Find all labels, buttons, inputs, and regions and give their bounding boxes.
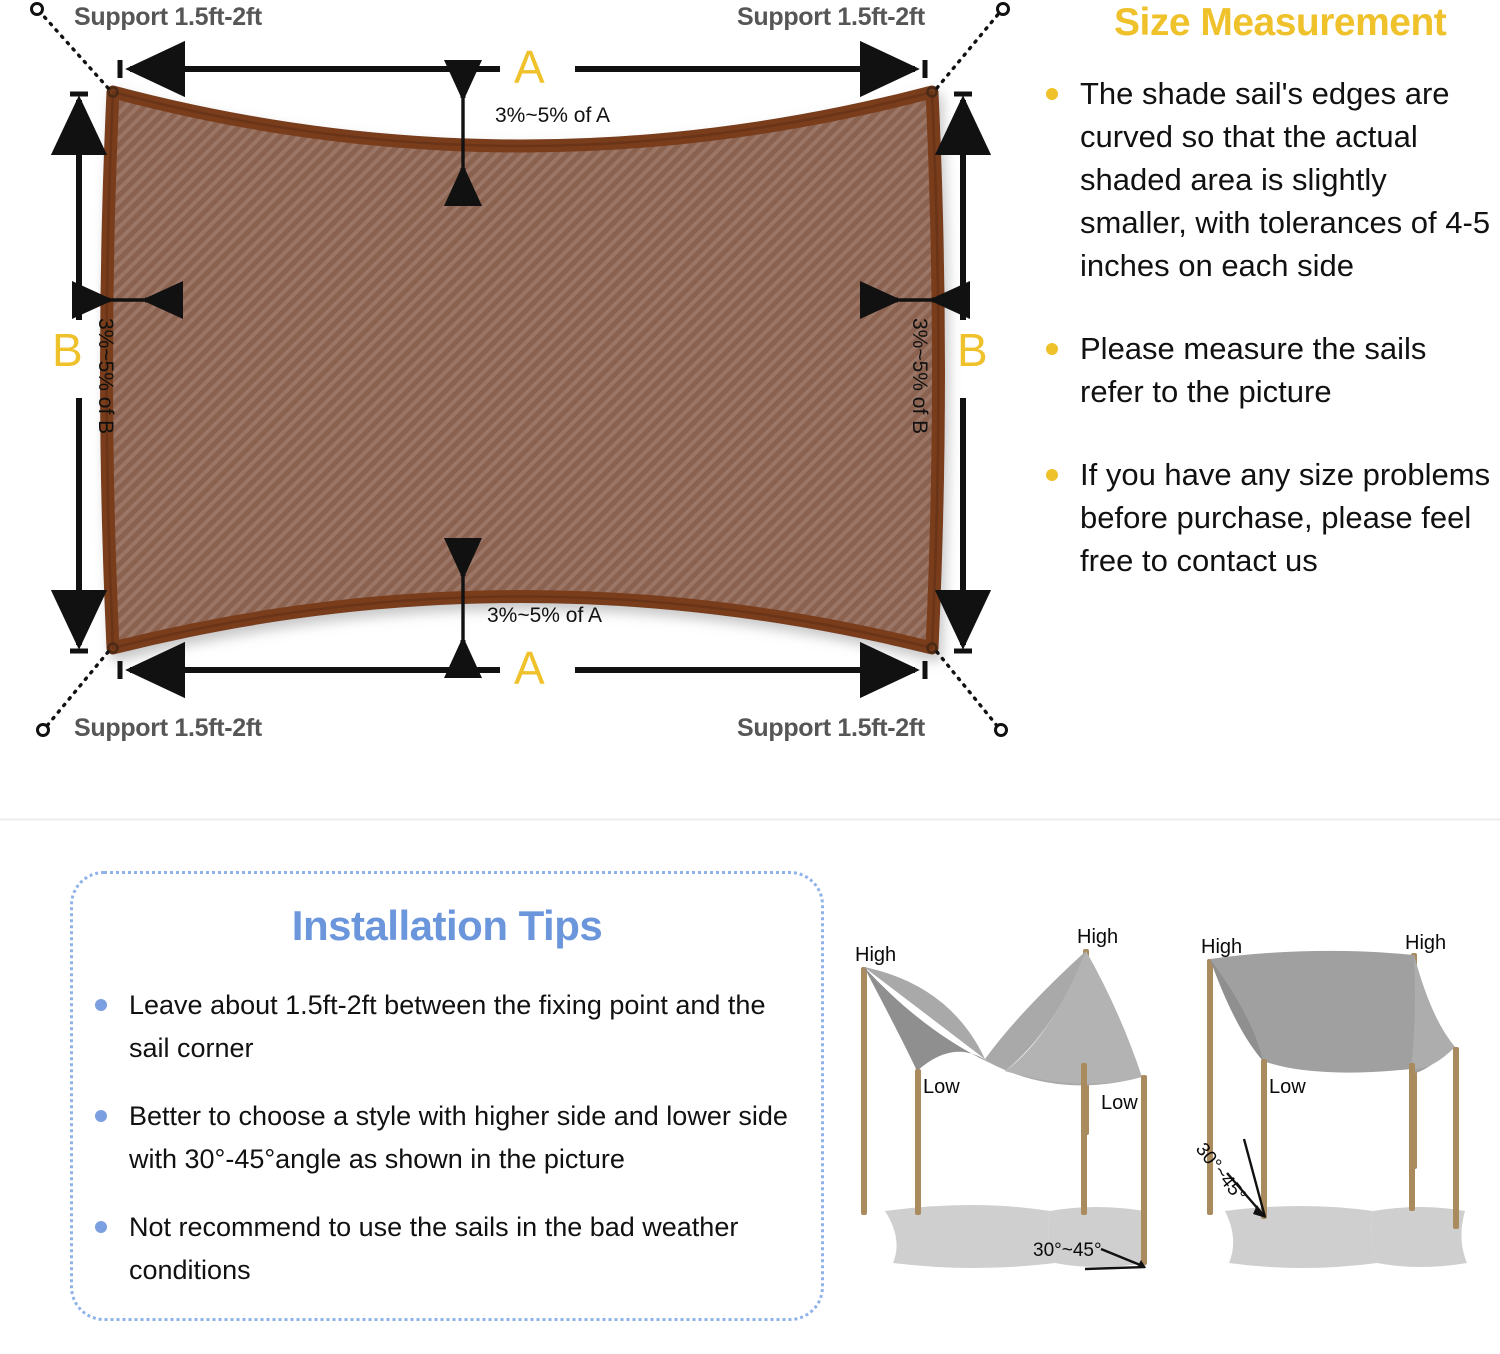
angle-label: 30°~45° bbox=[1033, 1240, 1102, 1261]
tolerance-label-b-right: 3%~5% of B bbox=[907, 318, 931, 434]
support-pole bbox=[1261, 1059, 1267, 1219]
support-pole bbox=[861, 967, 867, 1215]
ground-shadow bbox=[885, 1205, 1055, 1268]
illus-label-low: Low bbox=[923, 1076, 960, 1098]
list-item: Not recommend to use the sails in the ba… bbox=[95, 1206, 809, 1292]
list-item: If you have any size problems before pur… bbox=[1046, 453, 1498, 582]
illus-label-low: Low bbox=[1269, 1076, 1306, 1098]
tip-bullet-text: Not recommend to use the sails in the ba… bbox=[129, 1206, 809, 1292]
illus-label-high: High bbox=[855, 944, 896, 966]
support-pole bbox=[1453, 1047, 1459, 1229]
angle-label: 30°~45° bbox=[1191, 1139, 1250, 1206]
support-label-bottom-left: Support 1.5ft-2ft bbox=[74, 714, 262, 743]
list-item: The shade sail's edges are curved so tha… bbox=[1046, 72, 1498, 287]
size-measurement-title: Size Measurement bbox=[1114, 1, 1446, 45]
bullet-dot-icon bbox=[1046, 343, 1058, 355]
ground-shadow bbox=[1225, 1206, 1377, 1268]
size-bullet-text: Please measure the sails refer to the pi… bbox=[1080, 327, 1498, 413]
tolerance-label-a-top: 3%~5% of A bbox=[495, 104, 610, 128]
list-item: Please measure the sails refer to the pi… bbox=[1046, 327, 1498, 413]
illustration-hypar-sail: High High Low Low 30°~45° bbox=[855, 926, 1147, 1269]
support-label-top-right: Support 1.5ft-2ft bbox=[737, 3, 925, 32]
illus-label-high: High bbox=[1077, 926, 1118, 948]
tip-bullet-text: Leave about 1.5ft-2ft between the fixing… bbox=[129, 984, 809, 1070]
illus-label-high: High bbox=[1201, 936, 1242, 958]
installation-tips-bullet-list: Leave about 1.5ft-2ft between the fixing… bbox=[95, 984, 809, 1317]
list-item: Better to choose a style with higher sid… bbox=[95, 1095, 809, 1181]
support-pole bbox=[1409, 1063, 1415, 1211]
sail-shape bbox=[107, 92, 939, 648]
bullet-dot-icon bbox=[1046, 469, 1058, 481]
tip-bullet-text: Better to choose a style with higher sid… bbox=[129, 1095, 809, 1181]
tolerance-label-a-bottom: 3%~5% of A bbox=[487, 604, 602, 628]
installation-illustrations: High High Low Low 30°~45° bbox=[845, 911, 1495, 1331]
bullet-dot-icon bbox=[95, 1110, 107, 1122]
dimension-letter-b-left: B bbox=[52, 327, 83, 373]
support-label-top-left: Support 1.5ft-2ft bbox=[74, 3, 262, 32]
support-pole bbox=[1141, 1075, 1147, 1265]
installation-tips-section: Installation Tips Leave about 1.5ft-2ft … bbox=[0, 821, 1500, 1354]
support-pole bbox=[915, 1069, 921, 1215]
bullet-dot-icon bbox=[95, 999, 107, 1011]
list-item: Leave about 1.5ft-2ft between the fixing… bbox=[95, 984, 809, 1070]
dimension-letter-a-bottom: A bbox=[514, 645, 545, 691]
bullet-dot-icon bbox=[1046, 88, 1058, 100]
tolerance-label-b-left: 3%~5% of B bbox=[93, 318, 117, 434]
illus-label-high: High bbox=[1405, 932, 1446, 954]
sail-surface-shaded bbox=[864, 967, 990, 1071]
size-bullet-text: If you have any size problems before pur… bbox=[1080, 453, 1498, 582]
dimension-letter-a-top: A bbox=[514, 44, 545, 90]
dimension-letter-b-right: B bbox=[957, 327, 988, 373]
size-measurement-section: Support 1.5ft-2ft Support 1.5ft-2ft Supp… bbox=[0, 0, 1500, 818]
size-bullet-text: The shade sail's edges are curved so tha… bbox=[1080, 72, 1498, 287]
size-measurement-bullet-list: The shade sail's edges are curved so tha… bbox=[1046, 72, 1498, 622]
support-pole bbox=[1081, 1063, 1087, 1215]
size-measurement-text-panel: Size Measurement The shade sail's edges … bbox=[1018, 0, 1500, 790]
support-label-bottom-right: Support 1.5ft-2ft bbox=[737, 714, 925, 743]
illustration-sloped-sail: High High Low 30°~45° bbox=[1191, 932, 1467, 1268]
installation-tips-title: Installation Tips bbox=[73, 902, 821, 950]
illus-label-low: Low bbox=[1101, 1092, 1138, 1114]
bullet-dot-icon bbox=[95, 1221, 107, 1233]
installation-tips-card: Installation Tips Leave about 1.5ft-2ft … bbox=[70, 871, 824, 1321]
